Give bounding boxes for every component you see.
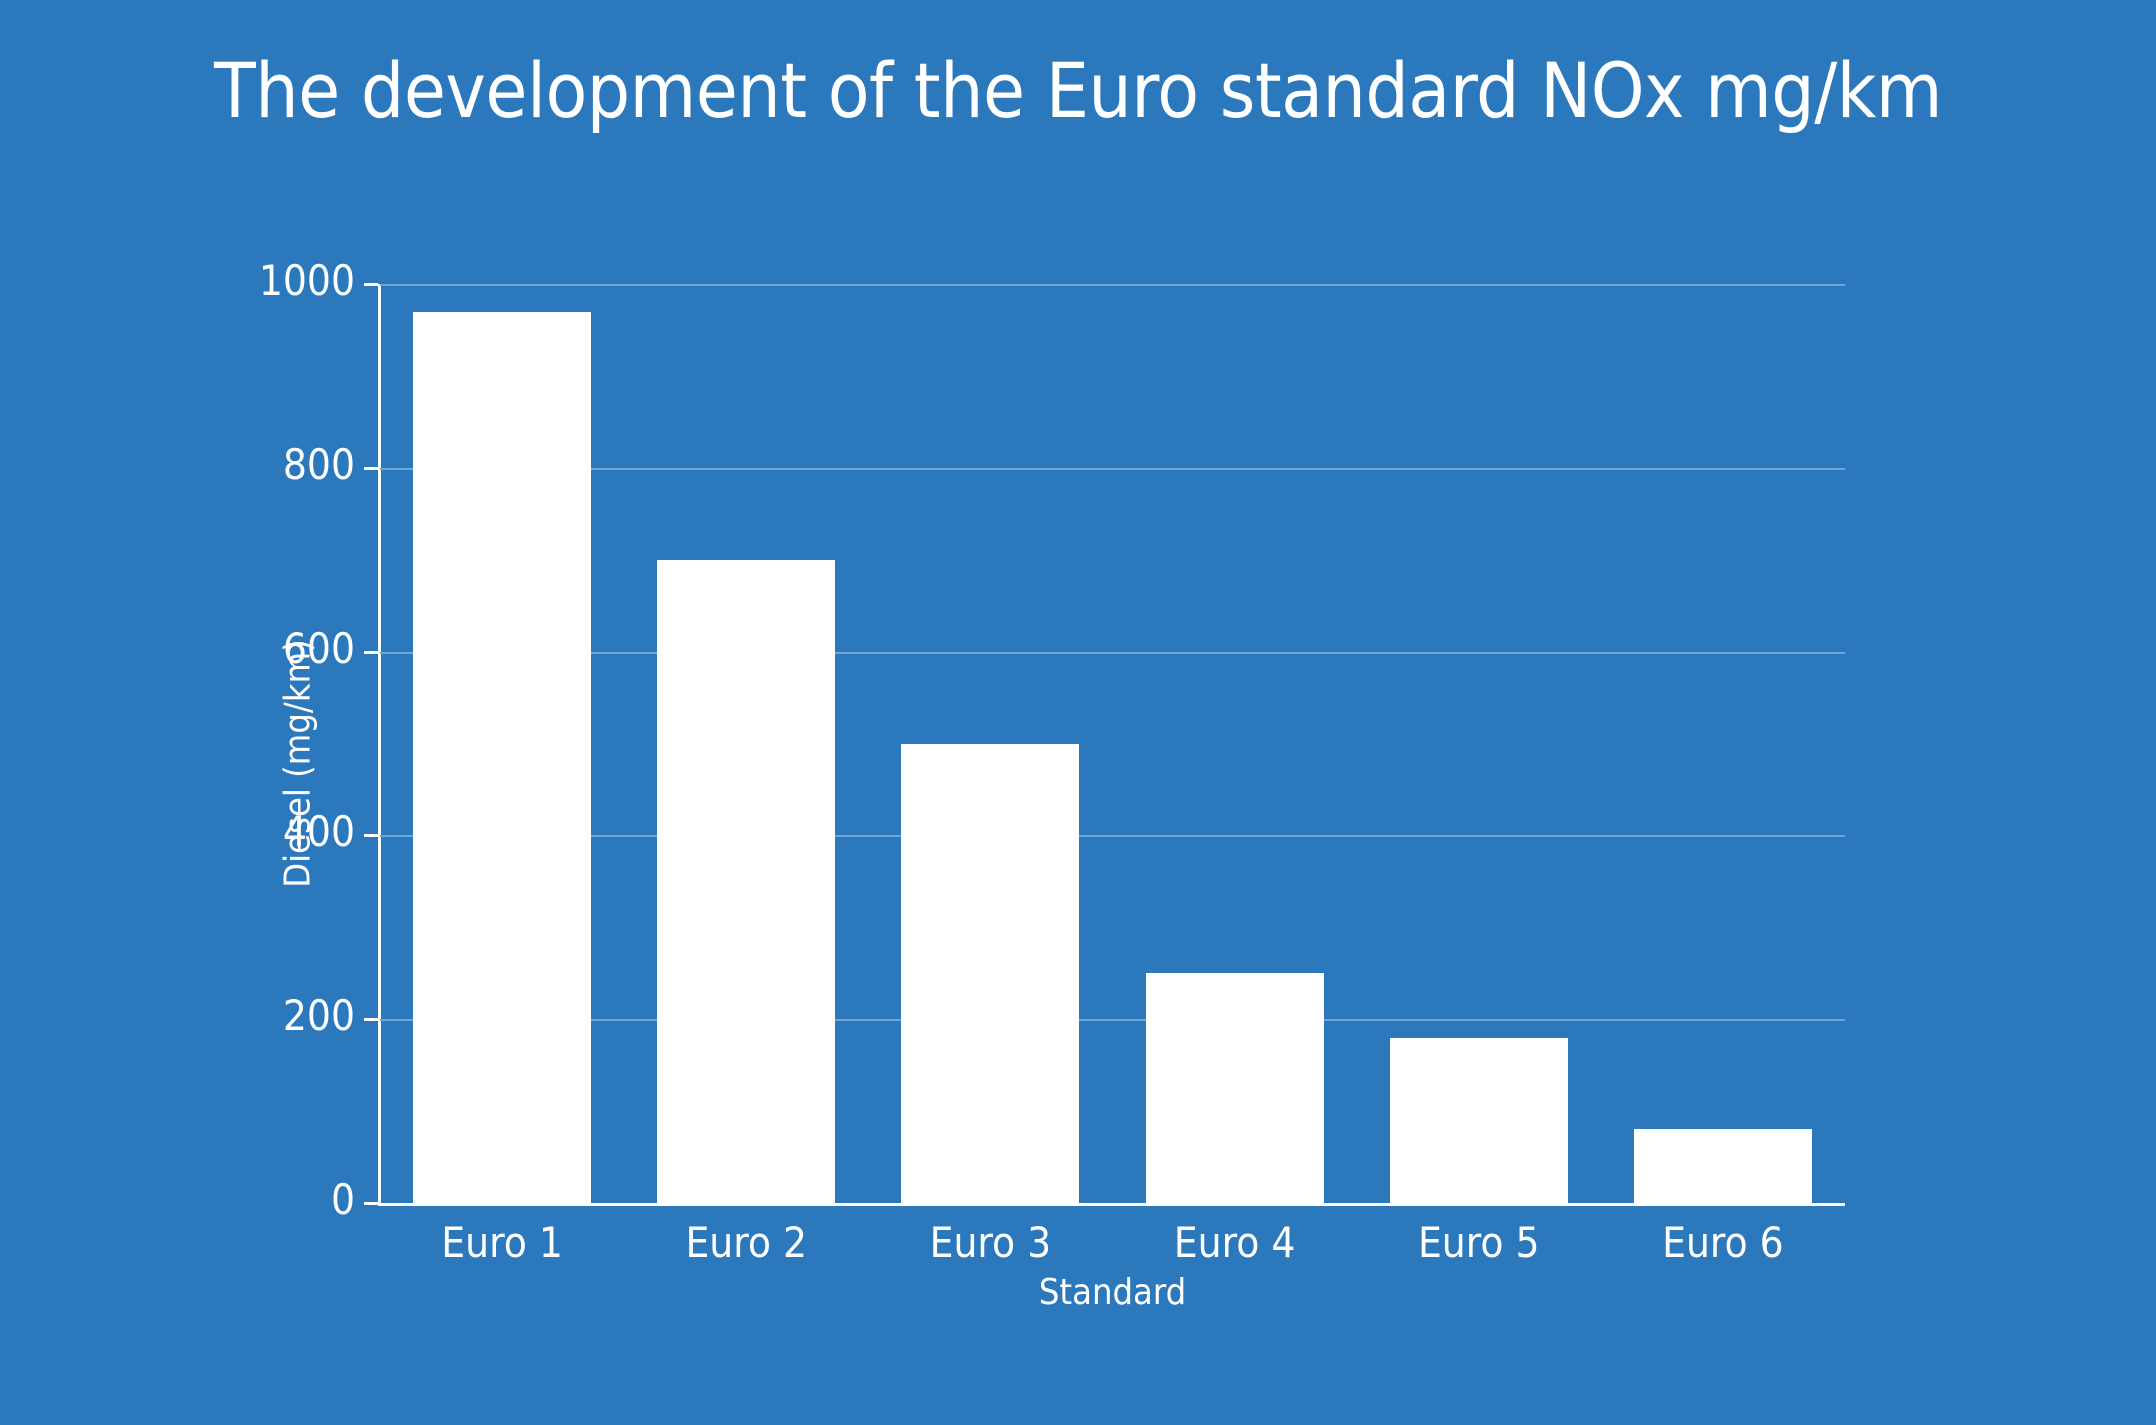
- bar[interactable]: [1390, 1038, 1568, 1203]
- x-axis-tick-label: Euro 1: [380, 1218, 624, 1267]
- gridline: [380, 1019, 1845, 1021]
- x-axis-tick-label: Euro 4: [1113, 1218, 1357, 1267]
- gridline: [380, 284, 1845, 286]
- x-axis-tick-label: Euro 2: [624, 1218, 868, 1267]
- gridline: [380, 652, 1845, 654]
- y-axis-tick-label: 0: [190, 1175, 355, 1224]
- x-axis-tick-label: Euro 6: [1601, 1218, 1845, 1267]
- x-axis-title: Standard: [380, 1272, 1845, 1313]
- bar[interactable]: [413, 312, 591, 1203]
- bar[interactable]: [1146, 973, 1324, 1203]
- x-axis-tick-label: Euro 3: [868, 1218, 1112, 1267]
- plot-area: [380, 284, 1845, 1203]
- page-title: The development of the Euro standard NOx…: [0, 46, 2156, 135]
- y-axis-tick-label: 1000: [190, 256, 355, 305]
- y-axis-tick-label: 400: [190, 807, 355, 856]
- chart-canvas: The development of the Euro standard NOx…: [0, 0, 2156, 1425]
- bar[interactable]: [901, 744, 1079, 1204]
- x-axis-line: [380, 1203, 1845, 1206]
- y-axis-tick-label: 800: [190, 440, 355, 489]
- y-axis-tick-mark: [364, 651, 378, 654]
- y-axis-tick-mark: [364, 1202, 378, 1205]
- y-axis-tick-mark: [364, 834, 378, 837]
- y-axis-tick-mark: [364, 283, 378, 286]
- gridline: [380, 468, 1845, 470]
- bar[interactable]: [1634, 1129, 1812, 1203]
- y-axis-tick-label: 600: [190, 624, 355, 673]
- y-axis-tick-mark: [364, 1018, 378, 1021]
- x-axis-tick-label: Euro 5: [1357, 1218, 1601, 1267]
- gridline: [380, 835, 1845, 837]
- y-axis-tick-mark: [364, 467, 378, 470]
- bar[interactable]: [657, 560, 835, 1203]
- y-axis-tick-label: 200: [190, 991, 355, 1040]
